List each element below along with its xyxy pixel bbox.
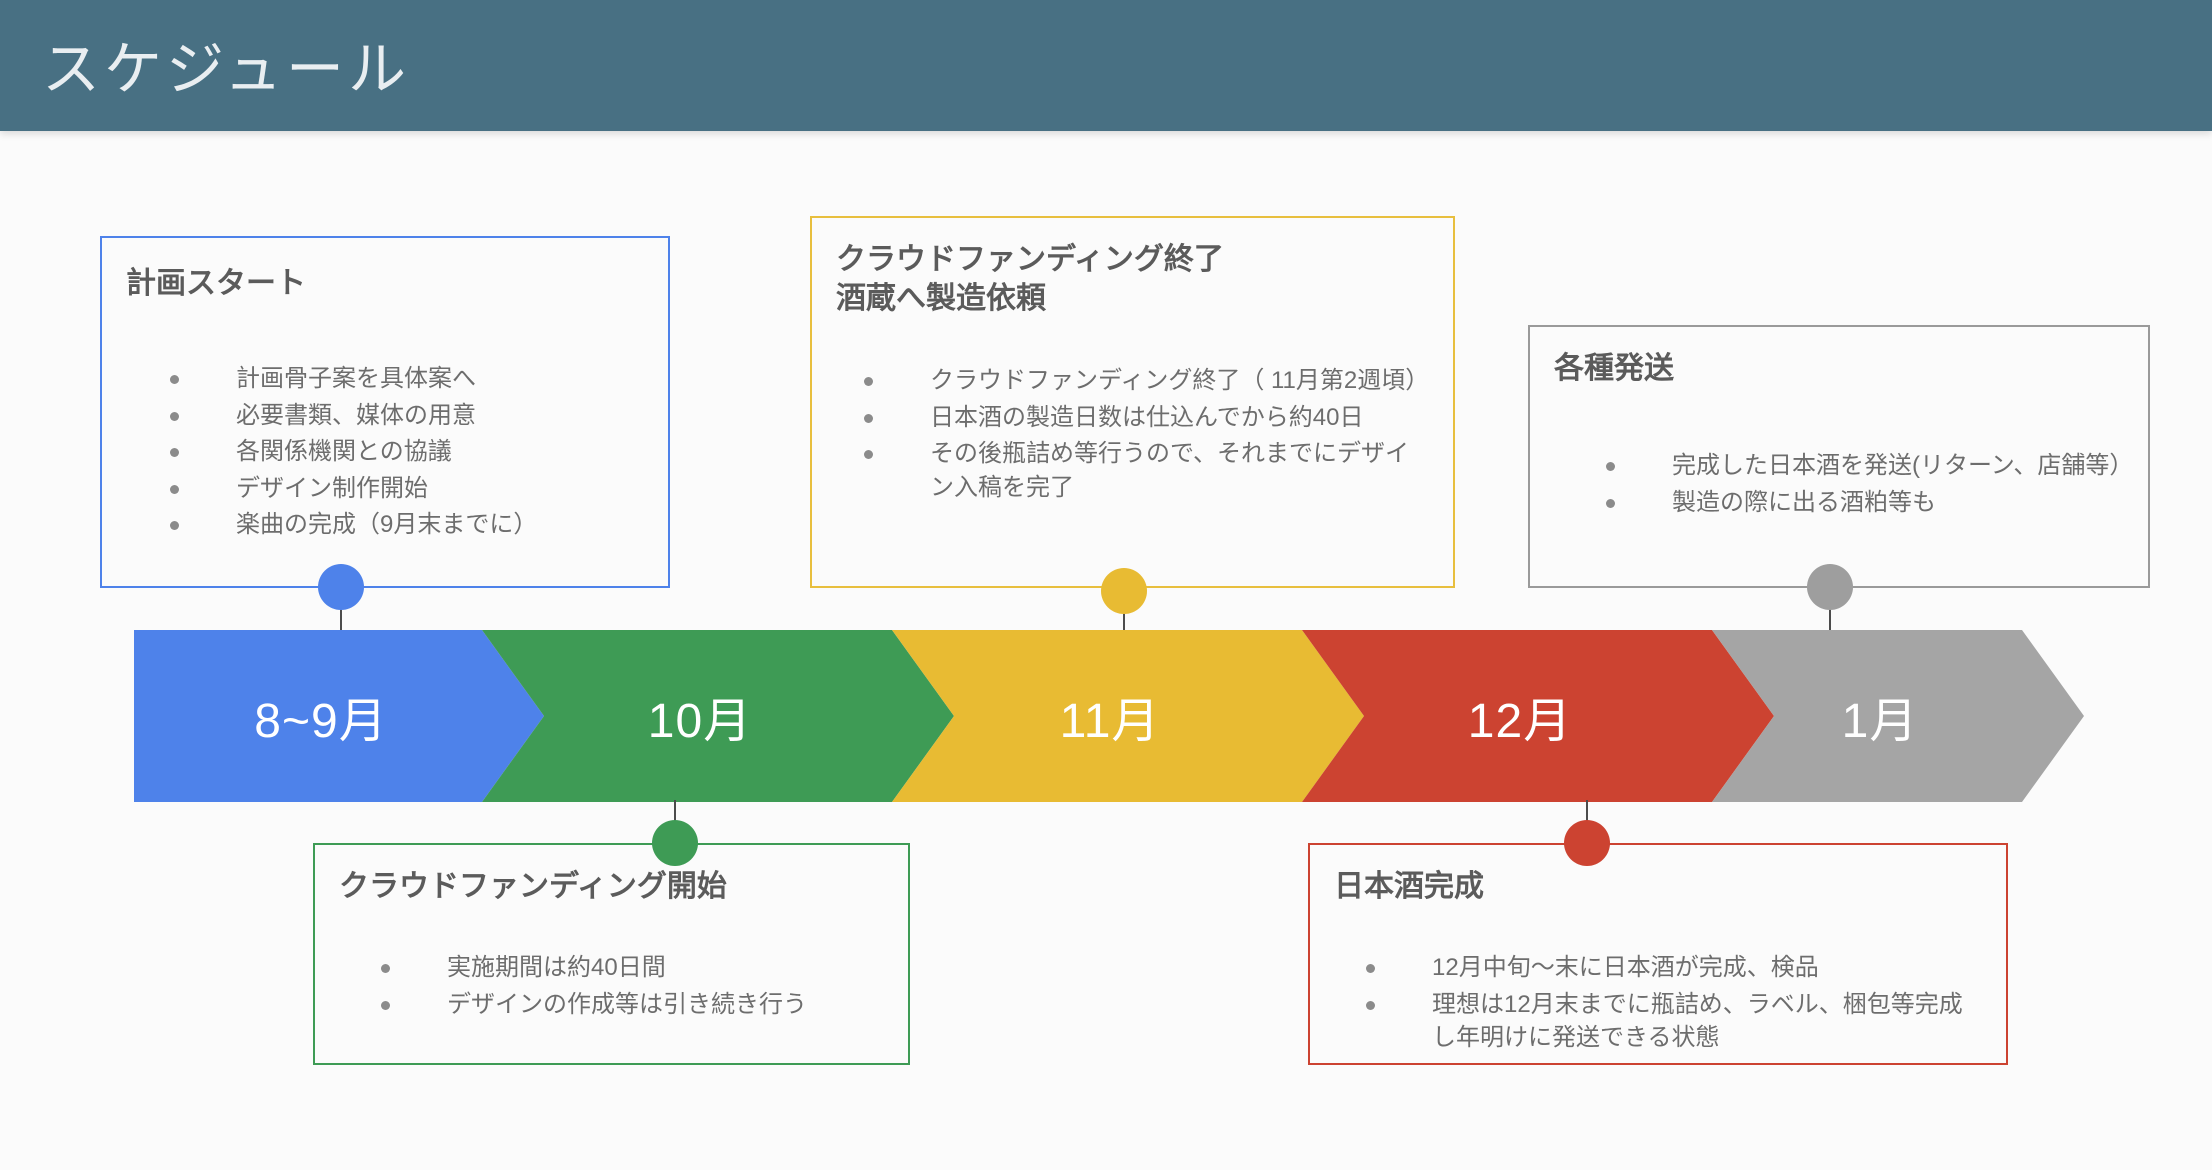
list-item: クラウドファンディング終了（ 11月第2週頃） [858,364,1428,398]
list-item: その後瓶詰め等行うので、それまでにデザイン入稿を完了 [858,437,1428,504]
card-cf-end-bullets: クラウドファンディング終了（ 11月第2週頃） 日本酒の製造日数は仕込んでから約… [858,364,1428,507]
list-item: 実施期間は約40日間 [375,951,895,985]
milestone-dot-plan-start[interactable] [318,564,364,610]
card-cf-start[interactable]: クラウドファンディング開始 実施期間は約40日間 デザインの作成等は引き続き行う [313,843,910,1065]
timeline-phase-oct[interactable]: 10月 [482,630,954,802]
timeline-phase-label: 10月 [648,681,752,751]
card-plan-start-bullets: 計画骨子案を具体案へ 必要書類、媒体の用意 各関係機関との協議 デザイン制作開始… [164,362,644,545]
timeline-phase-label: 12月 [1468,681,1572,751]
card-cf-end-title: クラウドファンディング終了 酒蔵へ製造依頼 [836,240,1224,318]
card-shipping-title: 各種発送 [1554,349,1674,388]
list-item: 製造の際に出る酒粕等も [1600,486,2140,520]
card-plan-start[interactable]: 計画スタート 計画骨子案を具体案へ 必要書類、媒体の用意 各関係機関との協議 デ… [100,236,670,588]
timeline-phase-nov[interactable]: 11月 [892,630,1364,802]
timeline-phase-label: 1月 [1842,681,1919,751]
timeline-phase-label: 11月 [1060,681,1161,751]
milestone-dot-cf-end[interactable] [1101,568,1147,614]
slide-canvas: スケジュール 計画スタート 計画骨子案を具体案へ 必要書類、媒体の用意 各関係機… [0,0,2212,1170]
list-item: デザインの作成等は引き続き行う [375,988,895,1022]
timeline-phase-aug-sep[interactable]: 8~9月 [134,630,544,802]
list-item: 理想は12月末までに瓶詰め、ラベル、梱包等完成し年明けに発送できる状態 [1360,988,1975,1055]
list-item: デザイン制作開始 [164,472,644,506]
card-cf-end[interactable]: クラウドファンディング終了 酒蔵へ製造依頼 クラウドファンディング終了（ 11月… [810,216,1455,588]
slide-header-bar: スケジュール [0,0,2212,131]
timeline-phase-dec[interactable]: 12月 [1302,630,1774,802]
milestone-dot-cf-start[interactable] [652,820,698,866]
list-item: 計画骨子案を具体案へ [164,362,644,396]
card-shipping-bullets: 完成した日本酒を発送(リターン、店舗等） 製造の際に出る酒粕等も [1600,449,2140,522]
list-item: 必要書類、媒体の用意 [164,399,644,433]
list-item: 各関係機関との協議 [164,435,644,469]
list-item: 完成した日本酒を発送(リターン、店舗等） [1600,449,2140,483]
list-item: 12月中旬～末に日本酒が完成、検品 [1360,951,1975,985]
card-sake-done-bullets: 12月中旬～末に日本酒が完成、検品 理想は12月末までに瓶詰め、ラベル、梱包等完… [1360,951,1975,1058]
card-sake-done[interactable]: 日本酒完成 12月中旬～末に日本酒が完成、検品 理想は12月末までに瓶詰め、ラベ… [1308,843,2008,1065]
card-sake-done-title: 日本酒完成 [1334,867,1484,906]
card-cf-start-title: クラウドファンディング開始 [339,867,727,906]
list-item: 日本酒の製造日数は仕込んでから約40日 [858,401,1428,435]
card-plan-start-title: 計画スタート [126,264,306,303]
list-item: 楽曲の完成（9月末までに） [164,508,644,542]
page-title: スケジュール [42,22,410,106]
timeline-arrow-strip: 8~9月 10月 11月 12月 1月 [134,630,2084,802]
timeline-phase-label: 8~9月 [254,681,387,751]
card-cf-start-bullets: 実施期間は約40日間 デザインの作成等は引き続き行う [375,951,895,1024]
card-shipping[interactable]: 各種発送 完成した日本酒を発送(リターン、店舗等） 製造の際に出る酒粕等も [1528,325,2150,588]
milestone-dot-sake-done[interactable] [1564,820,1610,866]
milestone-dot-shipping[interactable] [1807,564,1853,610]
